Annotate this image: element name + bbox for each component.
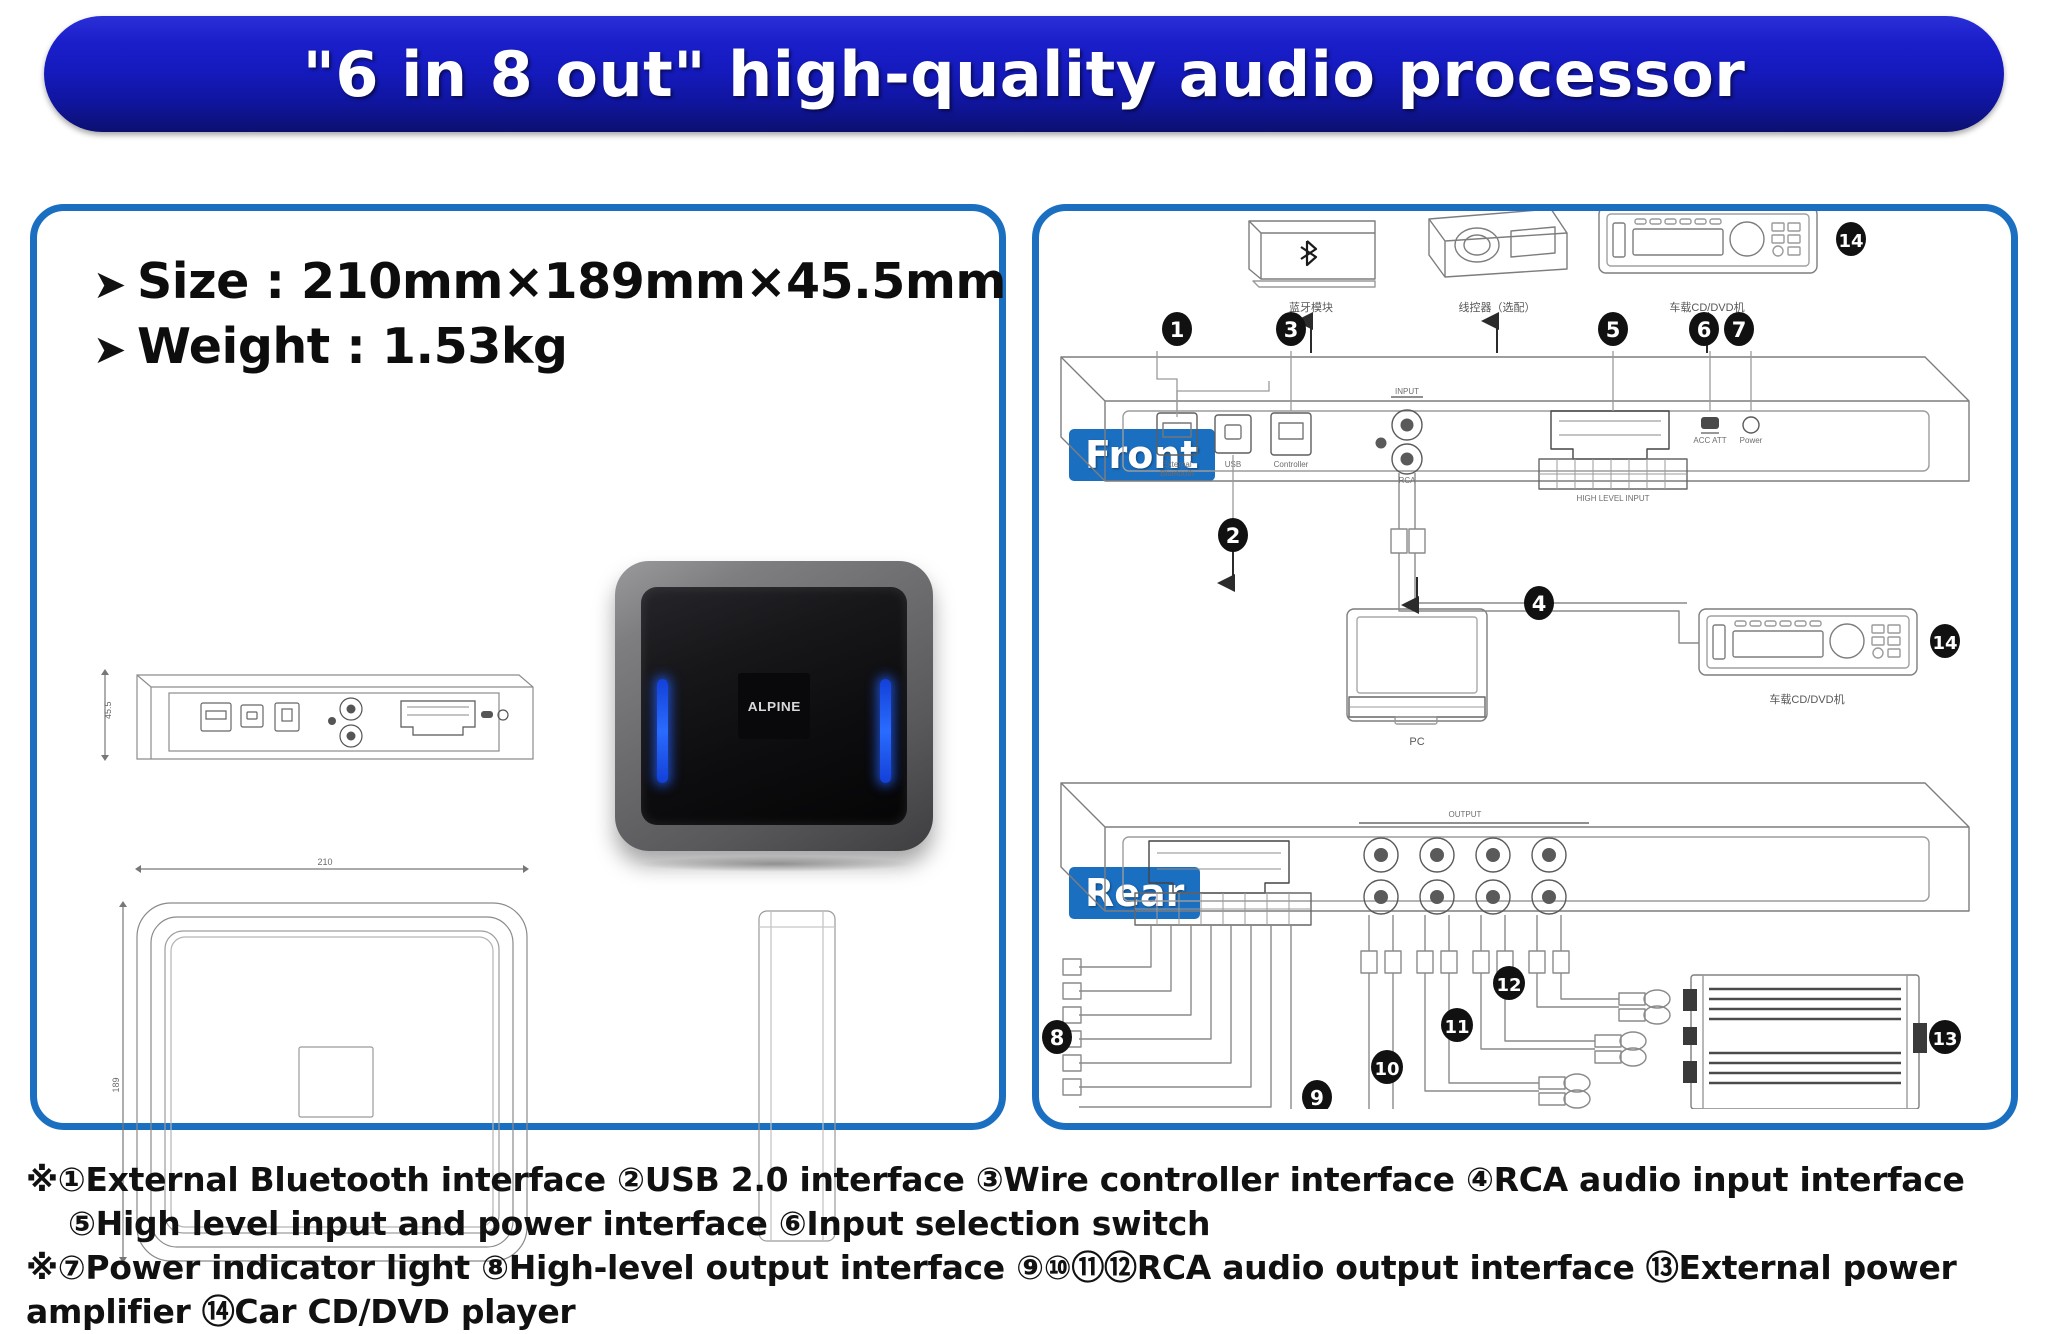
device-pc <box>1347 609 1487 724</box>
connection-diagram: 蓝牙模块 线控器（选配） 车载CD/DVD机 PC 车载CD/DVD机 功放次路… <box>1039 211 1997 1109</box>
product-shadow <box>637 856 913 872</box>
callout-11: 11 <box>1441 1008 1473 1042</box>
bullet-arrow-icon: ➤ <box>93 330 137 370</box>
svg-text:3: 3 <box>1284 318 1299 342</box>
rear-high-level-output-harness <box>1063 925 1291 1109</box>
callout-4: 4 <box>1524 586 1554 620</box>
callout-5: 5 <box>1598 312 1628 346</box>
led-strip-right-icon <box>880 679 891 783</box>
legend-block: ※①External Bluetooth interface ②USB 2.0 … <box>26 1158 2016 1334</box>
spec-list: ➤ Size : 210mm×189mm×45.5mm ➤ Weight : 1… <box>93 253 1006 383</box>
callout-3: 3 <box>1276 312 1306 346</box>
svg-text:4: 4 <box>1532 592 1547 616</box>
svg-text:9: 9 <box>1310 1086 1324 1109</box>
callout-1: 1 <box>1162 312 1192 346</box>
legend-line-2: ⑤High level input and power interface ⑥I… <box>26 1202 2016 1246</box>
rear-unit-chassis <box>1061 783 1969 911</box>
label-external-bluetooth: External <box>1162 460 1192 469</box>
label-high-level-input: HIGH LEVEL INPUT <box>1576 494 1649 503</box>
rear-port-high-level-output <box>1135 841 1311 925</box>
label-input: INPUT <box>1395 387 1419 396</box>
svg-text:14: 14 <box>1838 231 1863 252</box>
top-view-width-dimension: 210 <box>317 857 332 867</box>
device-car-cd-dvd-player-top <box>1599 211 1817 273</box>
product-chassis: ALPINE <box>615 561 933 851</box>
led-strip-left-icon <box>657 679 668 783</box>
callout-14-side: 14 <box>1930 624 1960 658</box>
rear-rca-output-cables <box>1361 915 1619 1109</box>
page-title: "6 in 8 out" high-quality audio processo… <box>303 38 1746 111</box>
device-external-amplifier <box>1683 975 1927 1109</box>
callout-7: 7 <box>1724 312 1754 346</box>
callout-9: 9 <box>1302 1080 1332 1109</box>
brand-logo: ALPINE <box>738 673 810 739</box>
legend-line-3: ※⑦Power indicator light ⑧High-level outp… <box>26 1246 2016 1290</box>
callout-10: 10 <box>1371 1050 1403 1084</box>
callout-12: 12 <box>1493 966 1525 1000</box>
legend-line-1: ※①External Bluetooth interface ②USB 2.0 … <box>26 1158 2016 1202</box>
connection-diagram-panel: Front Rear <box>1032 204 2018 1130</box>
caption-wire-controller: 线控器（选配） <box>1459 300 1536 314</box>
callout-2: 2 <box>1218 518 1248 552</box>
svg-text:5: 5 <box>1606 318 1621 342</box>
slide-root: "6 in 8 out" high-quality audio processo… <box>0 0 2048 1321</box>
title-banner: "6 in 8 out" high-quality audio processo… <box>44 16 2004 132</box>
specifications-panel: ➤ Size : 210mm×189mm×45.5mm ➤ Weight : 1… <box>30 204 1006 1130</box>
spec-row-size: ➤ Size : 210mm×189mm×45.5mm <box>93 253 1006 310</box>
callout-14-top: 14 <box>1836 222 1866 256</box>
bluetooth-icon <box>1301 241 1316 265</box>
device-wire-controller <box>1429 211 1567 277</box>
spec-size-label: Size : 210mm×189mm×45.5mm <box>137 253 1006 310</box>
product-top-face: ALPINE <box>641 587 907 825</box>
side-view-drawing: 45.5 <box>89 641 549 811</box>
spec-weight-label: Weight : 1.53kg <box>137 318 568 375</box>
front-port-power-led <box>1743 417 1759 433</box>
product-photo: ALPINE <box>597 551 952 876</box>
brand-logo-text: ALPINE <box>747 699 800 714</box>
front-port-rca-input <box>1376 397 1424 474</box>
top-view-height-dimension: 189 <box>111 1077 121 1092</box>
spec-row-weight: ➤ Weight : 1.53kg <box>93 318 1006 375</box>
label-power: Power <box>1740 436 1763 445</box>
device-car-cd-dvd-player-side <box>1699 609 1917 675</box>
side-view-height-dimension: 45.5 <box>103 701 113 719</box>
front-port-high-level-input <box>1539 411 1687 489</box>
caption-cd-dvd-top: 车载CD/DVD机 <box>1669 300 1744 314</box>
label-rca: RCA <box>1399 476 1417 485</box>
svg-text:7: 7 <box>1732 318 1747 342</box>
svg-text:10: 10 <box>1374 1059 1399 1080</box>
svg-text:11: 11 <box>1444 1017 1469 1038</box>
callout-8: 8 <box>1042 1020 1072 1054</box>
caption-cd-dvd-side: 车载CD/DVD机 <box>1769 692 1844 706</box>
front-port-external-bluetooth <box>1157 413 1197 455</box>
svg-text:1: 1 <box>1170 318 1185 342</box>
callout-badges: 1 3 5 6 7 2 4 14 14 8 9 10 11 12 13 <box>1042 222 1961 1109</box>
caption-pc: PC <box>1409 736 1424 748</box>
callout-13: 13 <box>1929 1020 1961 1054</box>
bullet-arrow-icon: ➤ <box>93 265 137 305</box>
label-acc-att: ACC ATT <box>1693 436 1726 445</box>
callout-6: 6 <box>1689 312 1719 346</box>
legend-line-4: amplifier ⑭Car CD/DVD player <box>26 1290 2016 1334</box>
front-port-controller <box>1271 413 1311 455</box>
svg-text:14: 14 <box>1932 633 1957 654</box>
svg-text:12: 12 <box>1496 975 1521 996</box>
svg-text:2: 2 <box>1226 524 1241 548</box>
front-port-input-selection-switch <box>1701 417 1719 433</box>
label-external-bluetooth-2: Bluetooth <box>1160 469 1194 478</box>
label-output: OUTPUT <box>1449 810 1482 819</box>
svg-text:13: 13 <box>1932 1029 1957 1050</box>
label-controller: Controller <box>1274 460 1309 469</box>
svg-text:8: 8 <box>1050 1026 1065 1050</box>
front-port-usb <box>1215 415 1251 453</box>
caption-bluetooth-module: 蓝牙模块 <box>1289 301 1333 314</box>
svg-text:6: 6 <box>1697 318 1712 342</box>
